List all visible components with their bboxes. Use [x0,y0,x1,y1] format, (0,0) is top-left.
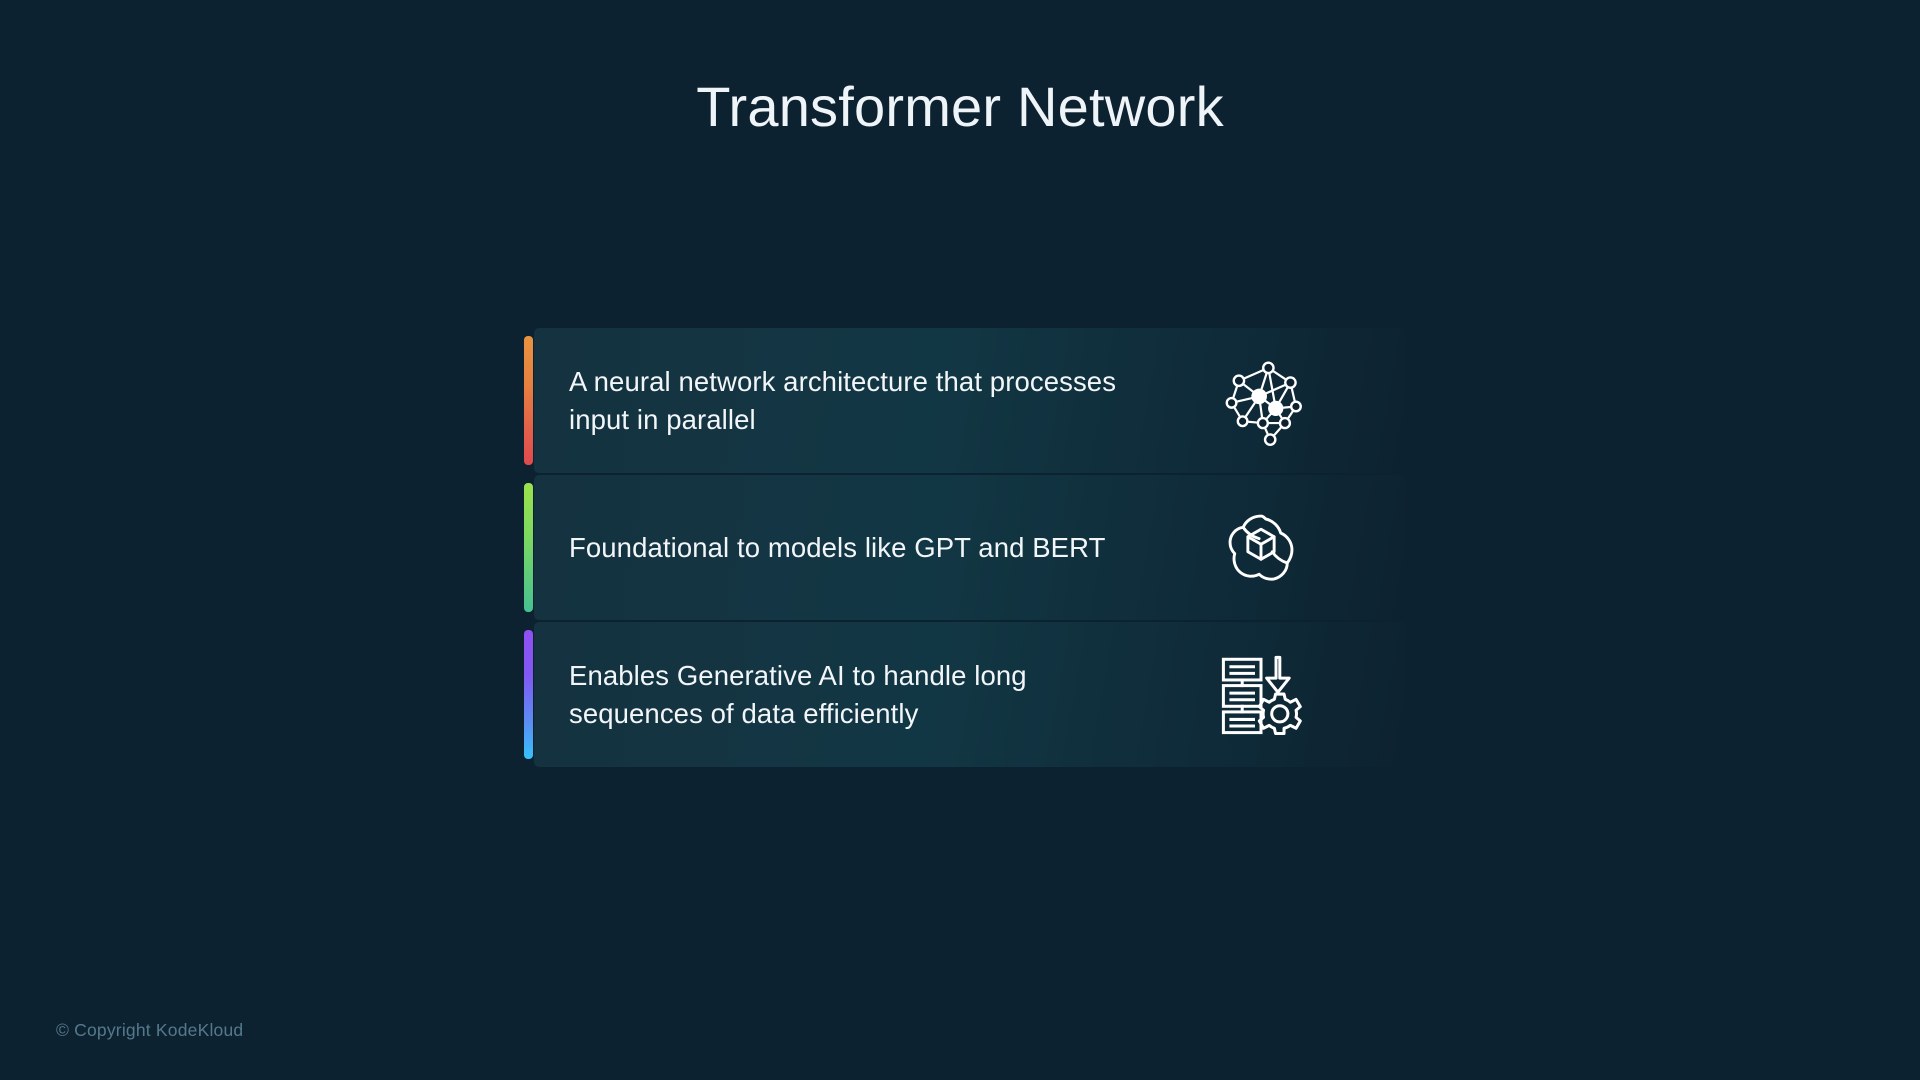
openai-logo-icon [1215,502,1307,594]
feature-card-icon-slot [1206,328,1316,473]
feature-card-icon-slot [1206,622,1316,767]
accent-bar-purple-cyan [524,630,533,759]
feature-card: A neural network architecture that proce… [534,328,1406,473]
neural-network-icon [1215,355,1307,447]
feature-card-text: A neural network architecture that proce… [569,363,1129,439]
data-pipeline-gear-icon [1214,648,1308,742]
feature-card: Enables Generative AI to handle long seq… [534,622,1406,767]
feature-card: Foundational to models like GPT and BERT [534,475,1406,620]
copyright-footer: © Copyright KodeKloud [56,1020,243,1041]
feature-card-list: A neural network architecture that proce… [534,328,1406,769]
feature-card-text: Enables Generative AI to handle long seq… [569,657,1129,733]
accent-bar-green [524,483,533,612]
feature-card-icon-slot [1206,475,1316,620]
page-title: Transformer Network [0,76,1920,138]
slide-root: Transformer Network A neural network arc… [0,0,1920,1080]
feature-card-text: Foundational to models like GPT and BERT [569,529,1129,567]
accent-bar-orange-red [524,336,533,465]
